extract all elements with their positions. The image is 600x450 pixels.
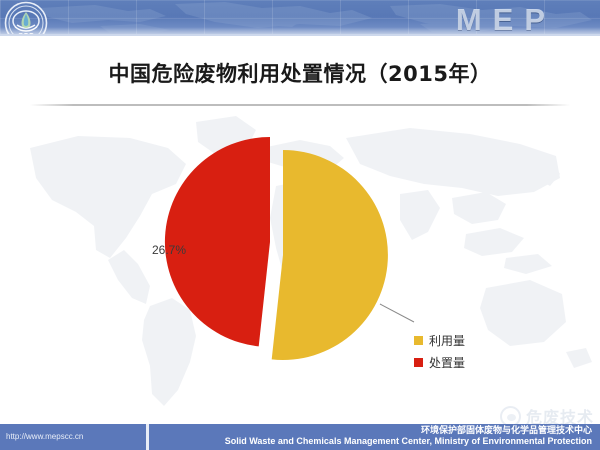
legend-swatch-utilization	[414, 336, 423, 345]
pie-slice-utilization[interactable]	[272, 150, 388, 360]
footer-url-link[interactable]: http://www.mepscc.cn	[6, 432, 83, 441]
footer-divider	[146, 424, 149, 450]
header-banner: SCC MEP	[0, 0, 600, 36]
legend-label-disposal: 处置量	[429, 354, 465, 371]
legend-item-disposal[interactable]: 处置量	[414, 354, 465, 371]
pie-slice-disposal[interactable]	[165, 137, 270, 346]
footer-org-name-en: Solid Waste and Chemicals Management Cen…	[225, 436, 592, 446]
title-divider	[30, 104, 570, 106]
pie-chart-svg	[0, 108, 600, 420]
pie-chart: 26.7% 73.3% 利用量 处置量	[0, 108, 600, 420]
page-title: 中国危险废物利用处置情况（2015年）	[0, 58, 600, 88]
chart-legend: 利用量 处置量	[414, 332, 465, 376]
legend-label-utilization: 利用量	[429, 332, 465, 349]
footer-bar: http://www.mepscc.cn 环境保护部固体废物与化学品管理技术中心…	[0, 424, 600, 450]
leader-line-gold	[380, 304, 414, 322]
data-label-disposal: 26.7%	[152, 243, 186, 257]
header-bottom-line	[0, 34, 600, 36]
legend-swatch-disposal	[414, 358, 423, 367]
footer-org-name-cn: 环境保护部固体废物与化学品管理技术中心	[421, 424, 592, 436]
slide-canvas: SCC MEP 中国危险废物利用处置情况（2015年）	[0, 0, 600, 450]
page-title-wrap: 中国危险废物利用处置情况（2015年）	[0, 58, 600, 88]
legend-item-utilization[interactable]: 利用量	[414, 332, 465, 349]
